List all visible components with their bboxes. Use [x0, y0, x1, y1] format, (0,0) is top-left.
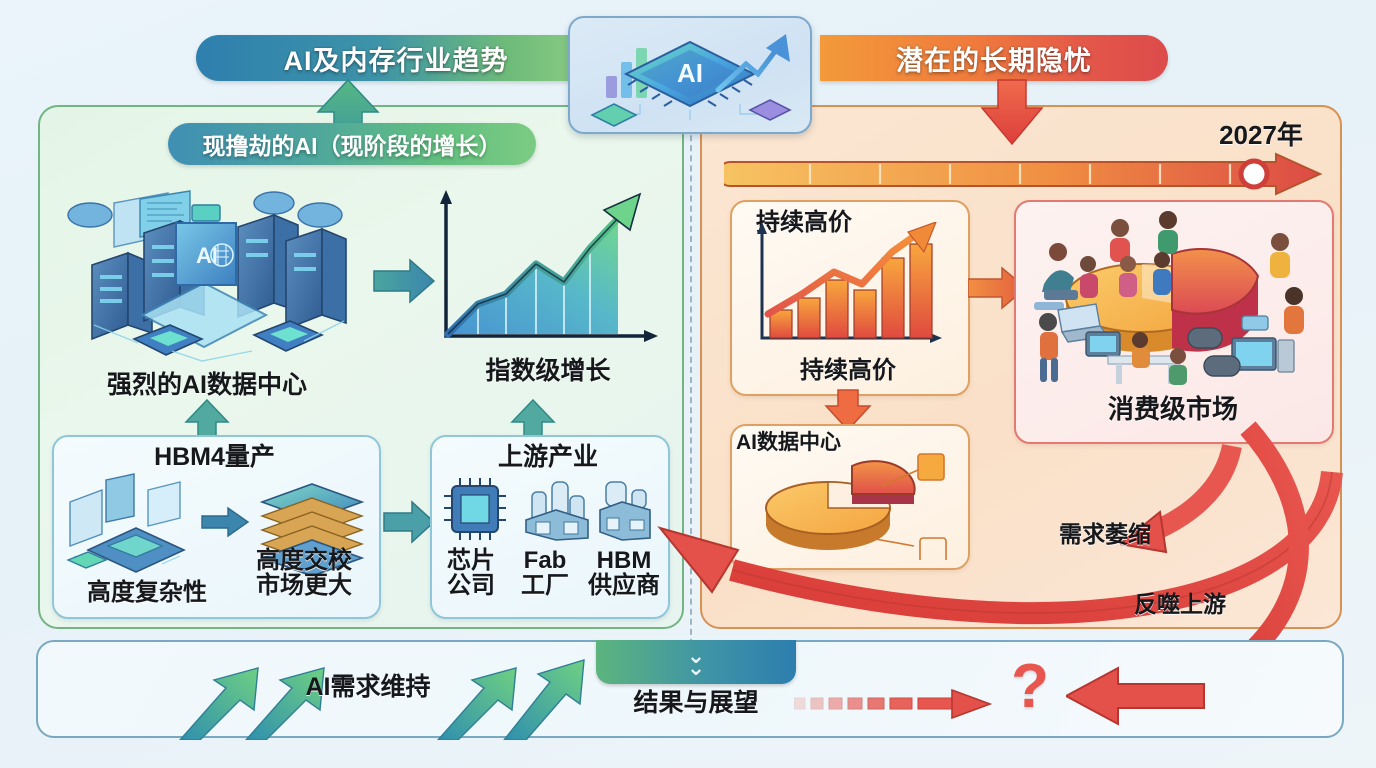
- consumer-market-illustration: [1022, 206, 1322, 394]
- label-exponential-growth: 指数级增长: [438, 358, 658, 384]
- ai-chip-badge: AI: [568, 16, 812, 134]
- results-outlook-tab[interactable]: ⌄⌄: [596, 640, 796, 684]
- label-bigger-market: 高度交校 市场更大: [238, 548, 370, 598]
- label-high-complexity: 高度复杂性: [62, 580, 232, 605]
- chevron-double-down-icon: ⌄⌄: [687, 650, 705, 674]
- banner-right-label: 潜在的长期隐忧: [896, 39, 1092, 78]
- arrow-up-upstream-to-growth: [508, 398, 558, 440]
- label-ai-demand-sustained: AI需求维持: [258, 674, 478, 700]
- banner-long-term-risk[interactable]: 潜在的长期隐忧: [820, 35, 1168, 81]
- label-demand-shrink: 需求萎缩: [1020, 522, 1190, 546]
- arrow-down-from-right-banner: [976, 78, 1048, 146]
- timeline-to-2027: [724, 152, 1324, 198]
- exponential-growth-chart: [418, 186, 668, 366]
- banner-left-label: AI及内存行业趋势: [284, 39, 509, 78]
- arrow-up-hbm-to-datacenter: [182, 398, 232, 440]
- price-chart-caption: 持续高价: [740, 358, 956, 383]
- infographic-canvas: AI及内存行业趋势 潜在的长期隐忧: [0, 0, 1376, 768]
- arrow-left-into-question: [1066, 666, 1206, 728]
- banner-ai-memory-trend[interactable]: AI及内存行业趋势: [196, 35, 596, 81]
- timeline-year-2027: 2027年: [1196, 122, 1326, 149]
- label-backlash-upstream: 反噬上游: [1090, 592, 1270, 616]
- upstream-item-chip-company: 芯片 公司: [434, 548, 508, 598]
- svg-text:AI: AI: [677, 58, 703, 88]
- ai-datacenter-illustration: AI: [52, 175, 382, 365]
- label-results-and-outlook: 结果与展望: [596, 690, 796, 716]
- ai-chip-icon: AI: [570, 18, 810, 132]
- pill-label: 现撸劫的AI（现阶段的增长）: [203, 127, 502, 161]
- pill-current-stage-growth[interactable]: 现撸劫的AI（现阶段的增长）: [168, 123, 536, 165]
- arrow-right-datacenter-to-growth: [372, 258, 438, 304]
- price-bar-chart: [740, 222, 956, 352]
- upstream-item-fab: Fab 工厂: [508, 548, 582, 598]
- dashed-red-arrow: [794, 688, 1000, 722]
- hbm4-title: HBM4量产: [62, 444, 367, 470]
- label-strong-ai-datacenter: 强烈的AI数据中心: [62, 372, 352, 398]
- question-mark-outcome: ?: [990, 654, 1070, 719]
